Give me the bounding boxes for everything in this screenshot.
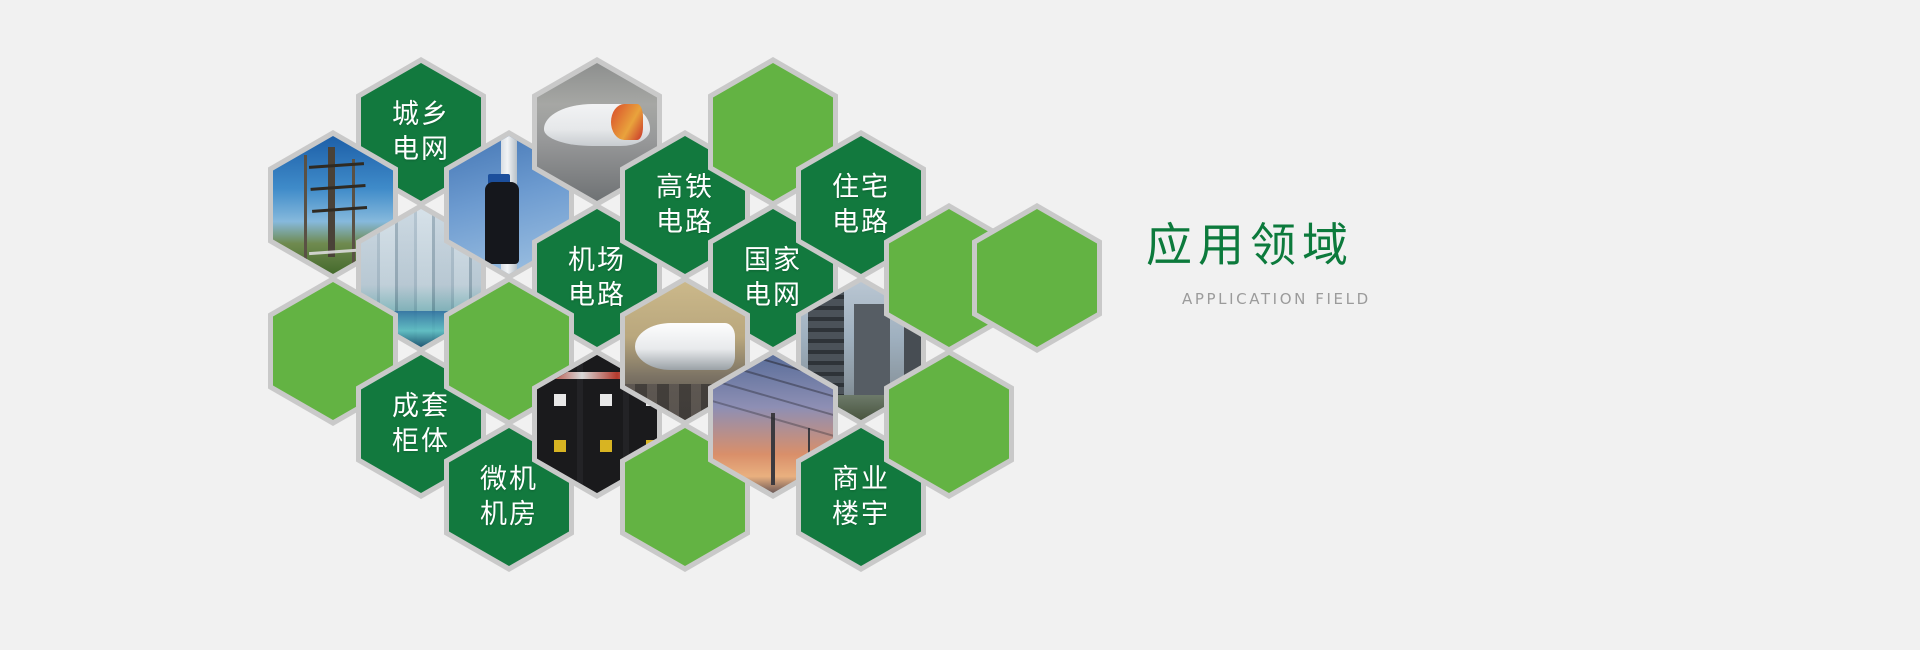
hex-label-high-speed-rail-circuit: 高铁 电路: [656, 170, 714, 240]
page-subtitle: APPLICATION FIELD: [1182, 290, 1566, 308]
page-title: 应用领域: [1146, 222, 1566, 268]
hex-label-assembled-cabinet: 成套 柜体: [392, 389, 450, 459]
hex-label-state-grid: 国家 电网: [744, 243, 802, 313]
hex-label-urban-rural-grid: 城乡 电网: [392, 97, 450, 167]
hex-inner: [977, 209, 1097, 347]
hex-label-commercial-building: 商业 楼宇: [832, 462, 890, 532]
hex-label-residential-circuit: 住宅 电路: [832, 170, 890, 240]
application-field-banner: 城乡 电网机场 电路高铁 电路国家 电网住宅 电路成套 柜体微机 机房商业 楼宇…: [0, 0, 1920, 650]
hex-inner: [889, 355, 1009, 493]
hex-label-microcomputer-room: 微机 机房: [480, 462, 538, 532]
hex-label-airport-circuit: 机场 电路: [568, 243, 626, 313]
title-block: 应用领域 APPLICATION FIELD: [1146, 222, 1566, 308]
hex-cell-plain-right-edge: [972, 203, 1102, 353]
